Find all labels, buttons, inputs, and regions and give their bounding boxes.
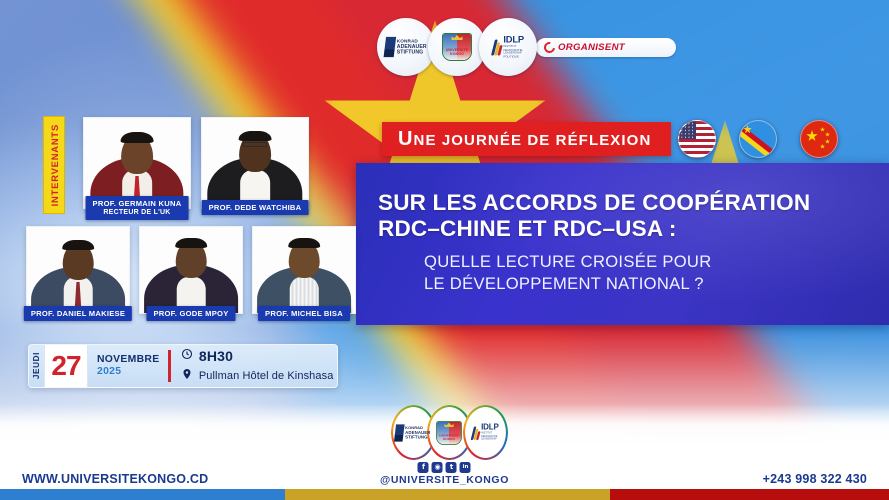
clock-icon — [181, 347, 193, 365]
headline-sub-line1: QUELLE LECTURE CROISÉE POUR — [378, 251, 878, 273]
idlp-logo: IDLP INSTITUT DEMOCRATIE LEADERSHIP POLI… — [479, 18, 537, 76]
university-crest-icon: UNIVERSITE KONGO — [442, 33, 472, 61]
speaker-name-badge: PROF. GODE MPOY — [146, 306, 235, 321]
website-url[interactable]: WWW.UNIVERSITEKONGO.CD — [22, 472, 208, 486]
footer-kas-line2: ADENAUER — [405, 430, 430, 435]
speaker-name-badge: PROF. DEDE WATCHIBA — [202, 200, 309, 215]
event-weekday: JEUDI — [32, 352, 41, 379]
idlp-line4: POLITIQUE — [503, 55, 524, 58]
event-month: NOVEMBRE — [97, 354, 159, 366]
kicker-rest: NE JOURNÉE DE RÉFLEXION — [414, 132, 652, 149]
headline-main-line1: SUR LES ACCORDS DE COOPÉRATION — [378, 190, 878, 216]
speaker-name: PROF. MICHEL BISA — [265, 309, 343, 318]
linkedin-icon[interactable]: in — [460, 462, 471, 473]
speaker-photo — [201, 117, 309, 209]
university-crest-icon: UNIVERSITE KONGO — [436, 420, 462, 444]
speaker-name: PROF. GERMAIN KUNA — [93, 199, 182, 208]
social-icons-row: f ◉ t in — [380, 462, 509, 473]
venue-line: Pullman Hôtel de Kinshasa — [181, 367, 337, 385]
speaker-name-badge: PROF. GERMAIN KUNA RECTEUR DE L'UK — [86, 196, 189, 220]
china-flag-icon — [800, 120, 838, 158]
speaker-card[interactable]: PROF. GERMAIN KUNA RECTEUR DE L'UK — [83, 117, 191, 209]
headline-sub-line2: LE DÉVELOPPEMENT NATIONAL ? — [378, 273, 878, 295]
konrad-adenauer-stiftung-logo: KONRAD ADENAUER STIFTUNG — [377, 18, 435, 76]
speaker-name-badge: PROF. DANIEL MAKIESE — [24, 306, 132, 321]
color-bar-yellow — [285, 489, 610, 500]
day-number-box: 27 — [44, 345, 88, 387]
speaker-photo — [252, 226, 356, 314]
idlp-mark-icon — [472, 424, 479, 440]
footer-kas-logo: KONRAD ADENAUER STIFTUNG — [391, 405, 436, 460]
flag-circles — [678, 120, 838, 158]
speaker-name: PROF. GODE MPOY — [153, 309, 228, 318]
speaker-name: PROF. DANIEL MAKIESE — [31, 309, 125, 318]
headline-text-block: SUR LES ACCORDS DE COOPÉRATION RDC–CHINE… — [378, 190, 878, 295]
crown-icon — [452, 35, 463, 40]
event-datetime-bar: JEUDI 27 NOVEMBRE 2025 8H30 — [28, 344, 338, 388]
event-year: 2025 — [97, 366, 159, 378]
kicker-dropcap: U — [398, 128, 414, 150]
kicker-banner: UNE JOURNÉE DE RÉFLEXION — [382, 122, 671, 156]
speaker-card[interactable]: PROF. DEDE WATCHIBA — [201, 117, 309, 209]
speaker-photo — [26, 226, 130, 314]
speaker-photo — [139, 226, 243, 314]
speaker-card[interactable]: PROF. MICHEL BISA — [252, 226, 356, 314]
speaker-subtitle: RECTEUR DE L'UK — [93, 208, 182, 217]
universite-kongo-logo: UNIVERSITE KONGO — [428, 18, 486, 76]
footer-kas-line3: STIFTUNG — [405, 435, 430, 440]
event-time: 8H30 — [199, 348, 233, 364]
speaker-name: PROF. DEDE WATCHIBA — [209, 203, 302, 212]
contact-phone[interactable]: +243 998 322 430 — [763, 472, 867, 486]
organisent-pill: ORGANISENT — [536, 38, 676, 57]
crown-icon — [444, 422, 453, 426]
month-year-box: NOVEMBRE 2025 — [88, 345, 168, 387]
time-line: 8H30 — [181, 347, 337, 365]
intervenants-badge: INTERVENANTS — [43, 116, 65, 214]
social-handle-block: f ◉ t in @UNIVERSITE_KONGO — [380, 462, 509, 487]
top-logo-strip: KONRAD ADENAUER STIFTUNG UNIVERSITE KONG… — [0, 0, 889, 96]
kas-flag-mark-icon — [384, 37, 397, 57]
speaker-name-badge: PROF. MICHEL BISA — [258, 306, 350, 321]
event-poster: KONRAD ADENAUER STIFTUNG UNIVERSITE KONG… — [0, 0, 889, 500]
instagram-icon[interactable]: ◉ — [432, 462, 443, 473]
weekday-column: JEUDI — [29, 345, 44, 387]
organiser-logos: KONRAD ADENAUER STIFTUNG UNIVERSITE KONG… — [377, 18, 676, 76]
footer-logo-group: KONRAD ADENAUER STIFTUNG UNIVERSITE KONG… — [391, 405, 499, 460]
facebook-icon[interactable]: f — [418, 462, 429, 473]
location-pin-icon — [181, 367, 193, 385]
time-venue-box: 8H30 Pullman Hôtel de Kinshasa — [171, 345, 337, 387]
intervenants-label: INTERVENANTS — [49, 124, 60, 206]
color-bar-blue — [0, 489, 285, 500]
footer-color-bar — [0, 489, 889, 500]
color-bar-red — [610, 489, 889, 500]
headline-main-line2: RDC–CHINE ET RDC–USA : — [378, 216, 878, 242]
idlp-mark-icon — [492, 38, 500, 57]
event-venue: Pullman Hôtel de Kinshasa — [199, 370, 334, 382]
social-handle: @UNIVERSITE_KONGO — [380, 474, 509, 486]
speaker-card[interactable]: PROF. GODE MPOY — [139, 226, 243, 314]
footer-idlp-line3: LEADERSHIP — [481, 438, 499, 441]
kas-line1: KONRAD — [397, 38, 418, 44]
kas-line3: STIFTUNG — [397, 50, 427, 56]
kicker-text: UNE JOURNÉE DE RÉFLEXION — [398, 128, 651, 151]
footer-kas-line1: KONRAD — [405, 425, 423, 430]
organisent-ring-icon — [542, 39, 557, 54]
twitter-icon[interactable]: t — [446, 462, 457, 473]
footer-idlp-logo: IDLP INSTITUT DEMOCRATIE LEADERSHIP — [463, 405, 508, 460]
speaker-card[interactable]: PROF. DANIEL MAKIESE — [26, 226, 130, 314]
event-day: 27 — [51, 352, 80, 380]
footer-uk-crest-label: UNIVERSITE KONGO — [437, 433, 461, 440]
drc-flag-icon — [739, 120, 777, 158]
kas-flag-mark-icon — [394, 424, 405, 441]
usa-flag-icon — [678, 120, 716, 158]
organisent-label: ORGANISENT — [558, 42, 625, 53]
poster-footer: KONRAD ADENAUER STIFTUNG UNIVERSITE KONG… — [0, 404, 889, 500]
uk-crest-label: UNIVERSITE KONGO — [443, 48, 471, 56]
